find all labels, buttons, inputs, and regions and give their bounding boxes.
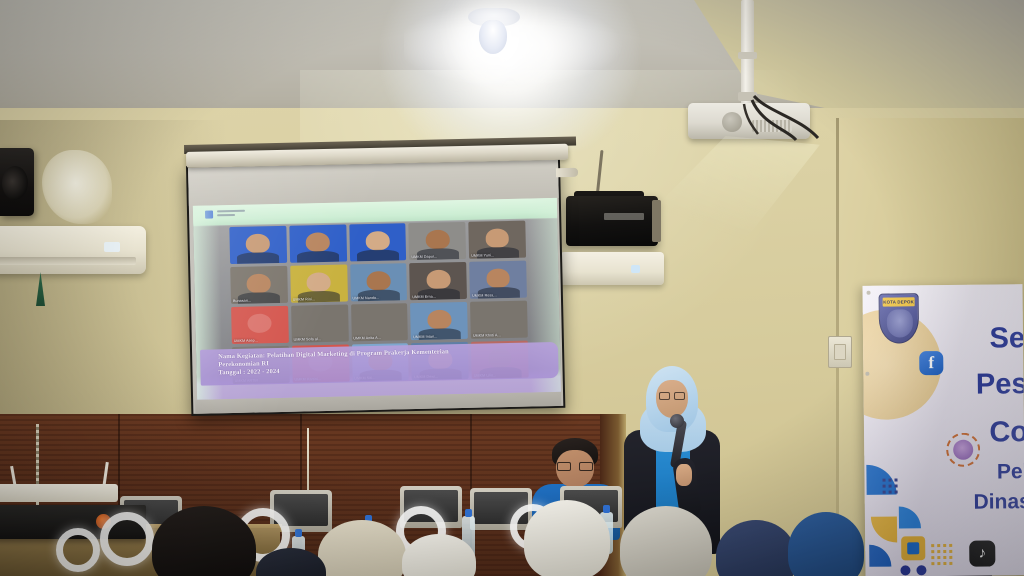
participant-tile[interactable]: Yuli... <box>472 381 529 382</box>
ceiling-light-bulb <box>479 20 507 54</box>
banner-geometric-decor <box>864 444 961 576</box>
participant-tile[interactable] <box>349 223 407 261</box>
participant-tile[interactable] <box>229 226 287 264</box>
participant-name-label: UMKM Intan... <box>413 335 437 340</box>
speaker-right-mount <box>652 200 661 242</box>
participant-name-label: UMKM Rosa... <box>472 293 497 298</box>
photo-scene: UMKM Dapur...UMKM Yuni...Bunasari...UMKM… <box>0 0 1024 576</box>
participant-name-label: UMKM Khoti A... <box>473 333 501 338</box>
participant-tile[interactable]: Pramono Rahmat... <box>233 386 290 387</box>
participant-avatar-icon <box>248 314 272 334</box>
banner-headline-2: Pes <box>976 368 1024 402</box>
ac-left-display <box>104 242 120 252</box>
participant-head <box>366 231 390 251</box>
projection-screen: UMKM Dapur...UMKM Yuni...Bunasari...UMKM… <box>186 158 565 416</box>
participant-tile[interactable]: UMKM Rosa... <box>469 261 527 299</box>
participant-name-label: UMKM Yuni... <box>471 253 494 258</box>
facebook-icon: f <box>919 351 943 375</box>
participant-tile[interactable]: UMKM Rini... <box>290 265 348 303</box>
participant-name-label: UMKM Rini... <box>293 297 315 301</box>
participant-name-label: UMKM Asep... <box>234 338 258 343</box>
participant-head <box>486 268 510 288</box>
ring-light <box>100 512 154 566</box>
kota-depok-emblem: KOTA DEPOK <box>879 293 920 343</box>
audience-head <box>524 500 610 576</box>
participant-head <box>309 385 333 386</box>
projector-lens-icon <box>722 112 742 132</box>
ac-left-vent-louver <box>0 257 136 265</box>
ac-right-display <box>631 265 640 273</box>
projector-vent <box>752 120 792 132</box>
participant-head <box>247 274 271 294</box>
speaker-brand-label <box>604 213 644 220</box>
wall-speaker-right <box>566 196 658 246</box>
eyeglasses-icon <box>557 462 593 471</box>
eyeglass-lens-left <box>659 392 670 400</box>
banner-subline-2: Dinas <box>973 490 1024 515</box>
participant-tile[interactable]: UMKM Yuni... <box>468 221 526 259</box>
projection-screen-surface: UMKM Dapur...UMKM Yuni...Bunasari...UMKM… <box>188 160 563 414</box>
eyeglass-lens-right <box>674 392 685 400</box>
microphone-icon[interactable] <box>670 414 684 428</box>
app-title-line <box>217 210 245 213</box>
participant-head <box>427 310 451 330</box>
presenter-hand <box>676 464 692 486</box>
participant-name-label: UMKM Anita A... <box>353 336 381 341</box>
participant-body <box>479 381 521 382</box>
participant-tile[interactable]: UMKM Nanda... <box>350 263 408 301</box>
participant-head <box>485 228 509 248</box>
banner-headline-1: Se <box>989 322 1024 355</box>
wall-switch-button[interactable] <box>834 344 846 360</box>
banner-grommet <box>867 291 871 295</box>
participant-head <box>369 384 393 385</box>
projector-pole-clamp <box>738 52 757 59</box>
participant-tile[interactable]: UMKM Asep... <box>231 306 289 344</box>
participant-tile[interactable]: UMKM Sofa al... <box>291 305 349 343</box>
tiktok-icon: ♪ <box>969 540 995 566</box>
participant-tile[interactable]: UMKM Erna... <box>410 262 468 300</box>
participant-name-label: UMKM Nanda... <box>352 296 379 301</box>
projector-pole-clamp-lower <box>738 92 757 101</box>
participant-tile[interactable]: Hendra... <box>352 383 409 384</box>
participant-tile[interactable]: UMKM Intan... <box>410 302 468 340</box>
participant-head <box>366 271 390 291</box>
participant-body <box>297 251 339 263</box>
emblem-label: KOTA DEPOK <box>883 297 915 306</box>
projected-meeting-window: UMKM Dapur...UMKM Yuni...Bunasari...UMKM… <box>193 198 561 400</box>
emblem-crest-icon <box>887 309 913 337</box>
app-subtitle-line <box>217 214 235 216</box>
event-banner: KOTA DEPOK f ♪ <box>862 284 1024 576</box>
wifi-router <box>0 484 118 502</box>
participant-body <box>300 385 342 386</box>
participant-name-label: UMKM Dapur... <box>411 255 437 260</box>
banner-grommet <box>865 372 869 376</box>
participant-tile[interactable] <box>289 225 347 263</box>
eyeglass-lens-right <box>579 462 593 471</box>
banner-headline-3: Co <box>989 416 1024 449</box>
participant-tile[interactable]: UMKM Khoti A... <box>470 301 528 339</box>
participant-head <box>488 381 512 382</box>
participant-name-label: UMKM Erna... <box>412 295 436 300</box>
speaker-cone-icon <box>2 166 28 200</box>
participant-head <box>306 232 330 252</box>
participant-tile[interactable]: Bunasari... <box>230 266 288 304</box>
participant-tile[interactable]: UMKM Anita A... <box>351 303 409 341</box>
participant-head <box>246 234 270 254</box>
participant-head <box>426 270 450 290</box>
participant-head <box>425 230 449 250</box>
banner-subline-1: Pel <box>997 460 1024 484</box>
participant-body <box>360 383 402 384</box>
participant-body <box>357 249 399 261</box>
participant-name-label: UMKM Sofa al... <box>294 337 322 342</box>
projection-screen-arm <box>556 168 578 177</box>
participant-tile[interactable]: Agus... <box>293 384 350 385</box>
participant-name-label: Bunasari... <box>233 299 251 303</box>
ring-light <box>56 528 100 572</box>
air-conditioner-left <box>0 226 146 274</box>
air-conditioner-right <box>560 252 664 285</box>
participant-body <box>237 252 279 264</box>
participant-head <box>307 272 331 292</box>
app-header-text-lines <box>217 210 245 217</box>
participant-tile[interactable]: UMKM Dapur... <box>409 222 467 260</box>
eyeglass-lens-left <box>557 462 571 471</box>
participant-tile[interactable]: Fery Wahyu Aw... <box>412 382 469 383</box>
